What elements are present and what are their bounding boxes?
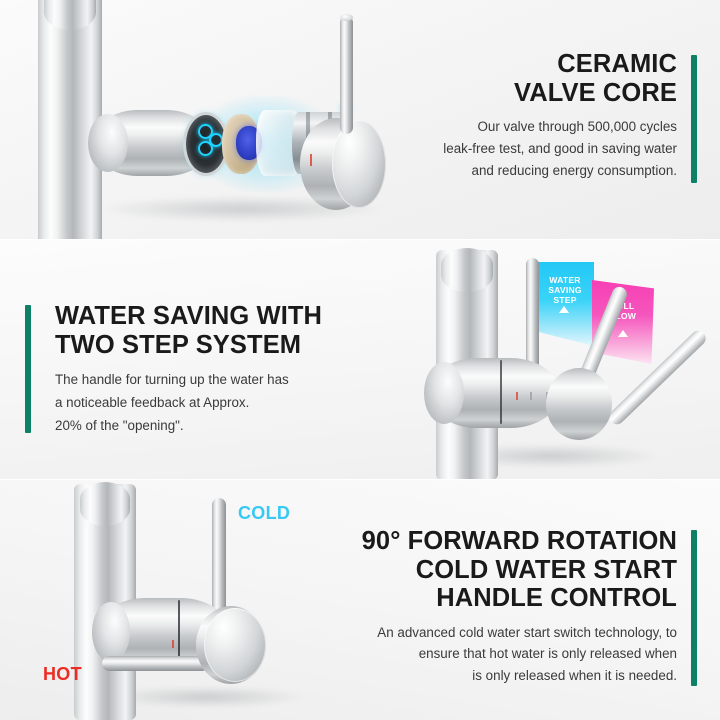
handle-lever-hot-position bbox=[102, 656, 210, 671]
fan-label-line: STEP bbox=[553, 295, 576, 305]
panel-water-saving: WATER SAVING STEP FULL FLOW bbox=[0, 240, 720, 479]
panel-title-3-line: HANDLE CONTROL bbox=[436, 584, 677, 612]
panel-body-1-line: and reducing energy consumption. bbox=[472, 163, 677, 178]
fan-label-line: WATER bbox=[549, 275, 580, 285]
text-block-water-saving: WATER SAVING WITH TWO STEP SYSTEM The ha… bbox=[55, 302, 385, 437]
panel-title-3-line: 90° FORWARD ROTATION bbox=[362, 527, 677, 555]
faucet-column-1 bbox=[38, 0, 102, 239]
label-cold: COLD bbox=[238, 503, 290, 524]
handle-body-tip-1 bbox=[88, 114, 128, 172]
panel-body-3-line: An advanced cold water start switch tech… bbox=[377, 625, 677, 640]
panel-title-1: CERAMIC VALVE CORE bbox=[377, 50, 677, 107]
label-hot: HOT bbox=[43, 664, 82, 685]
fan-marker-triangle-icon bbox=[559, 306, 569, 313]
product-infographic: CERAMIC VALVE CORE Our valve through 500… bbox=[0, 0, 720, 720]
text-block-ceramic-valve-core: CERAMIC VALVE CORE Our valve through 500… bbox=[377, 50, 677, 181]
handle-lever-1 bbox=[340, 16, 353, 134]
handle-body-tip-3 bbox=[92, 602, 130, 662]
panel-body-3-line: is only released when it is needed. bbox=[472, 668, 677, 683]
handle-hub-2 bbox=[546, 368, 612, 440]
handle-index-mark-mid bbox=[530, 392, 532, 400]
panel-ceramic-valve-core: CERAMIC VALVE CORE Our valve through 500… bbox=[0, 0, 720, 239]
panel-body-2-line: The handle for turning up the water has bbox=[55, 372, 289, 387]
panel-body-2-line: a noticeable feedback at Approx. bbox=[55, 395, 249, 410]
panel-body-3-line: ensure that hot water is only released w… bbox=[419, 646, 677, 661]
handle-hub-cap-3 bbox=[204, 608, 266, 682]
accent-bar-1 bbox=[691, 55, 697, 183]
valve-port-ring-icon bbox=[209, 133, 223, 147]
panel-title-2-line: TWO STEP SYSTEM bbox=[55, 331, 301, 359]
handle-index-mark-hot bbox=[516, 392, 518, 400]
handle-lever-cap-1 bbox=[340, 14, 353, 21]
fan-label-line: SAVING bbox=[548, 285, 582, 295]
panel-body-3: An advanced cold water start switch tech… bbox=[357, 622, 677, 687]
handle-index-mark-1 bbox=[310, 154, 312, 166]
panel-title-1-line: CERAMIC bbox=[557, 50, 677, 78]
panel-title-2: WATER SAVING WITH TWO STEP SYSTEM bbox=[55, 302, 385, 359]
panel-title-3: 90° FORWARD ROTATION COLD WATER START HA… bbox=[357, 527, 677, 613]
accent-bar-3 bbox=[691, 530, 697, 686]
panel-cold-water-start: COLD HOT 90° FORWARD ROTATION COLD WATER… bbox=[0, 480, 720, 720]
handle-body-tip-2 bbox=[424, 362, 464, 424]
panel-body-2: The handle for turning up the water has … bbox=[55, 368, 385, 437]
panel-body-2-line: 20% of the "opening". bbox=[55, 418, 184, 433]
panel-body-1-line: leak-free test, and good in saving water bbox=[443, 141, 677, 156]
accent-bar-2 bbox=[25, 305, 31, 433]
handle-seam-2 bbox=[500, 360, 502, 424]
panel-title-2-line: WATER SAVING WITH bbox=[55, 302, 322, 330]
text-block-cold-water-start: 90° FORWARD ROTATION COLD WATER START HA… bbox=[357, 527, 677, 687]
panel-body-1: Our valve through 500,000 cycles leak-fr… bbox=[377, 116, 677, 181]
faucet-column-neck-2 bbox=[441, 248, 493, 292]
fan-marker-triangle-icon bbox=[618, 330, 628, 337]
panel-body-1-line: Our valve through 500,000 cycles bbox=[478, 119, 678, 134]
panel-title-1-line: VALVE CORE bbox=[514, 79, 677, 107]
fan-label-water-saving: WATER SAVING STEP bbox=[536, 276, 594, 305]
faucet-column-neck-3 bbox=[80, 482, 130, 526]
handle-index-mark-3 bbox=[172, 640, 174, 648]
panel-title-3-line: COLD WATER START bbox=[416, 556, 677, 584]
handle-seam-3 bbox=[178, 600, 180, 662]
